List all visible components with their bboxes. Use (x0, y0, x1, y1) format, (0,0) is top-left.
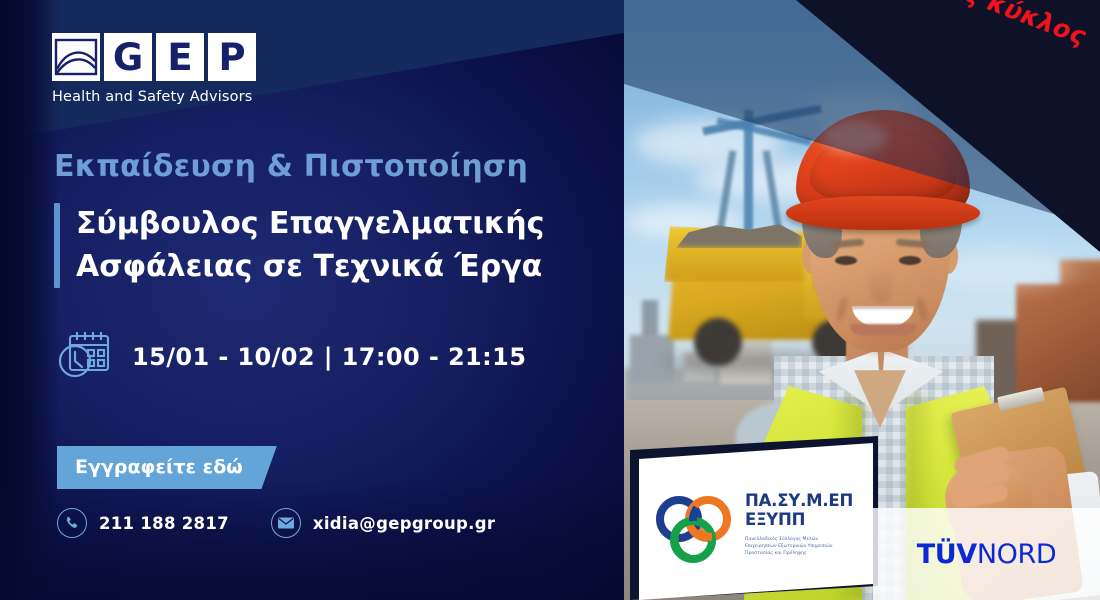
eyebrow-heading: Εκπαίδευση & Πιστοποίηση (54, 149, 528, 184)
pasymep-name-line2: ΕΞΥΠΠ (745, 510, 853, 529)
gep-logo: G E P Health and Safety Advisors (52, 33, 256, 105)
title-line-2: Ασφάλειας σε Τεχνικά Έργα (76, 246, 544, 289)
calendar-clock-icon (57, 327, 113, 387)
pasymep-card: ΠΑ.ΣΥ.Μ.ΕΠ ΕΞΥΠΠ Πανελλαδικός Σύλλογος Μ… (639, 443, 873, 600)
pasymep-rings-icon (653, 489, 735, 569)
chin (856, 336, 910, 354)
gep-tagline: Health and Safety Advisors (52, 89, 256, 105)
promo-banner: 2ος κύκλος G E P Health and Safety Advis… (0, 0, 1100, 600)
schedule-row: 15/01 - 10/02 | 17:00 - 21:15 (57, 327, 526, 387)
email-address: xidia@gepgroup.gr (313, 514, 495, 533)
gep-logo-squares: G E P (52, 33, 256, 81)
pasymep-name-line1: ΠΑ.ΣΥ.Μ.ΕΠ (745, 491, 853, 510)
gep-letter-e: E (156, 33, 204, 81)
email-icon (271, 508, 301, 538)
tuv-bold-text: TÜV (917, 539, 977, 570)
schedule-text: 15/01 - 10/02 | 17:00 - 21:15 (132, 343, 526, 371)
register-button[interactable]: Εγγραφείτε εδώ (57, 446, 277, 489)
main-title: Σύμβουλος Επαγγελματικής Ασφάλειας σε Τε… (54, 203, 544, 288)
tuv-nord-panel: TÜVNORD (873, 508, 1100, 600)
title-accent-bar (54, 203, 60, 288)
email-contact[interactable]: xidia@gepgroup.gr (271, 508, 495, 538)
title-text: Σύμβουλος Επαγγελματικής Ασφάλειας σε Τε… (76, 203, 544, 288)
hard-hat-brim (786, 196, 980, 230)
lower-lip (850, 324, 916, 336)
phone-icon (57, 508, 87, 538)
nose (870, 268, 892, 304)
tuv-light-text: NORD (977, 539, 1056, 570)
phone-number: 211 188 2817 (99, 514, 229, 533)
title-line-1: Σύμβουλος Επαγγελματικής (76, 203, 544, 246)
pasymep-subtitle: Πανελλαδικός Σύλλογος Μελών Επιχειρήσεων… (745, 536, 849, 557)
eye (899, 256, 921, 265)
phone-contact[interactable]: 211 188 2817 (57, 508, 229, 538)
eye (835, 256, 857, 265)
bottom-edge-shade (0, 480, 640, 600)
gep-letter-g: G (104, 33, 152, 81)
tuv-nord-logo: TÜVNORD (917, 539, 1056, 570)
contact-row: 211 188 2817 xidia@gepgroup.gr (57, 508, 495, 538)
gep-letter-p: P (208, 33, 256, 81)
gep-arc-icon (52, 33, 100, 81)
